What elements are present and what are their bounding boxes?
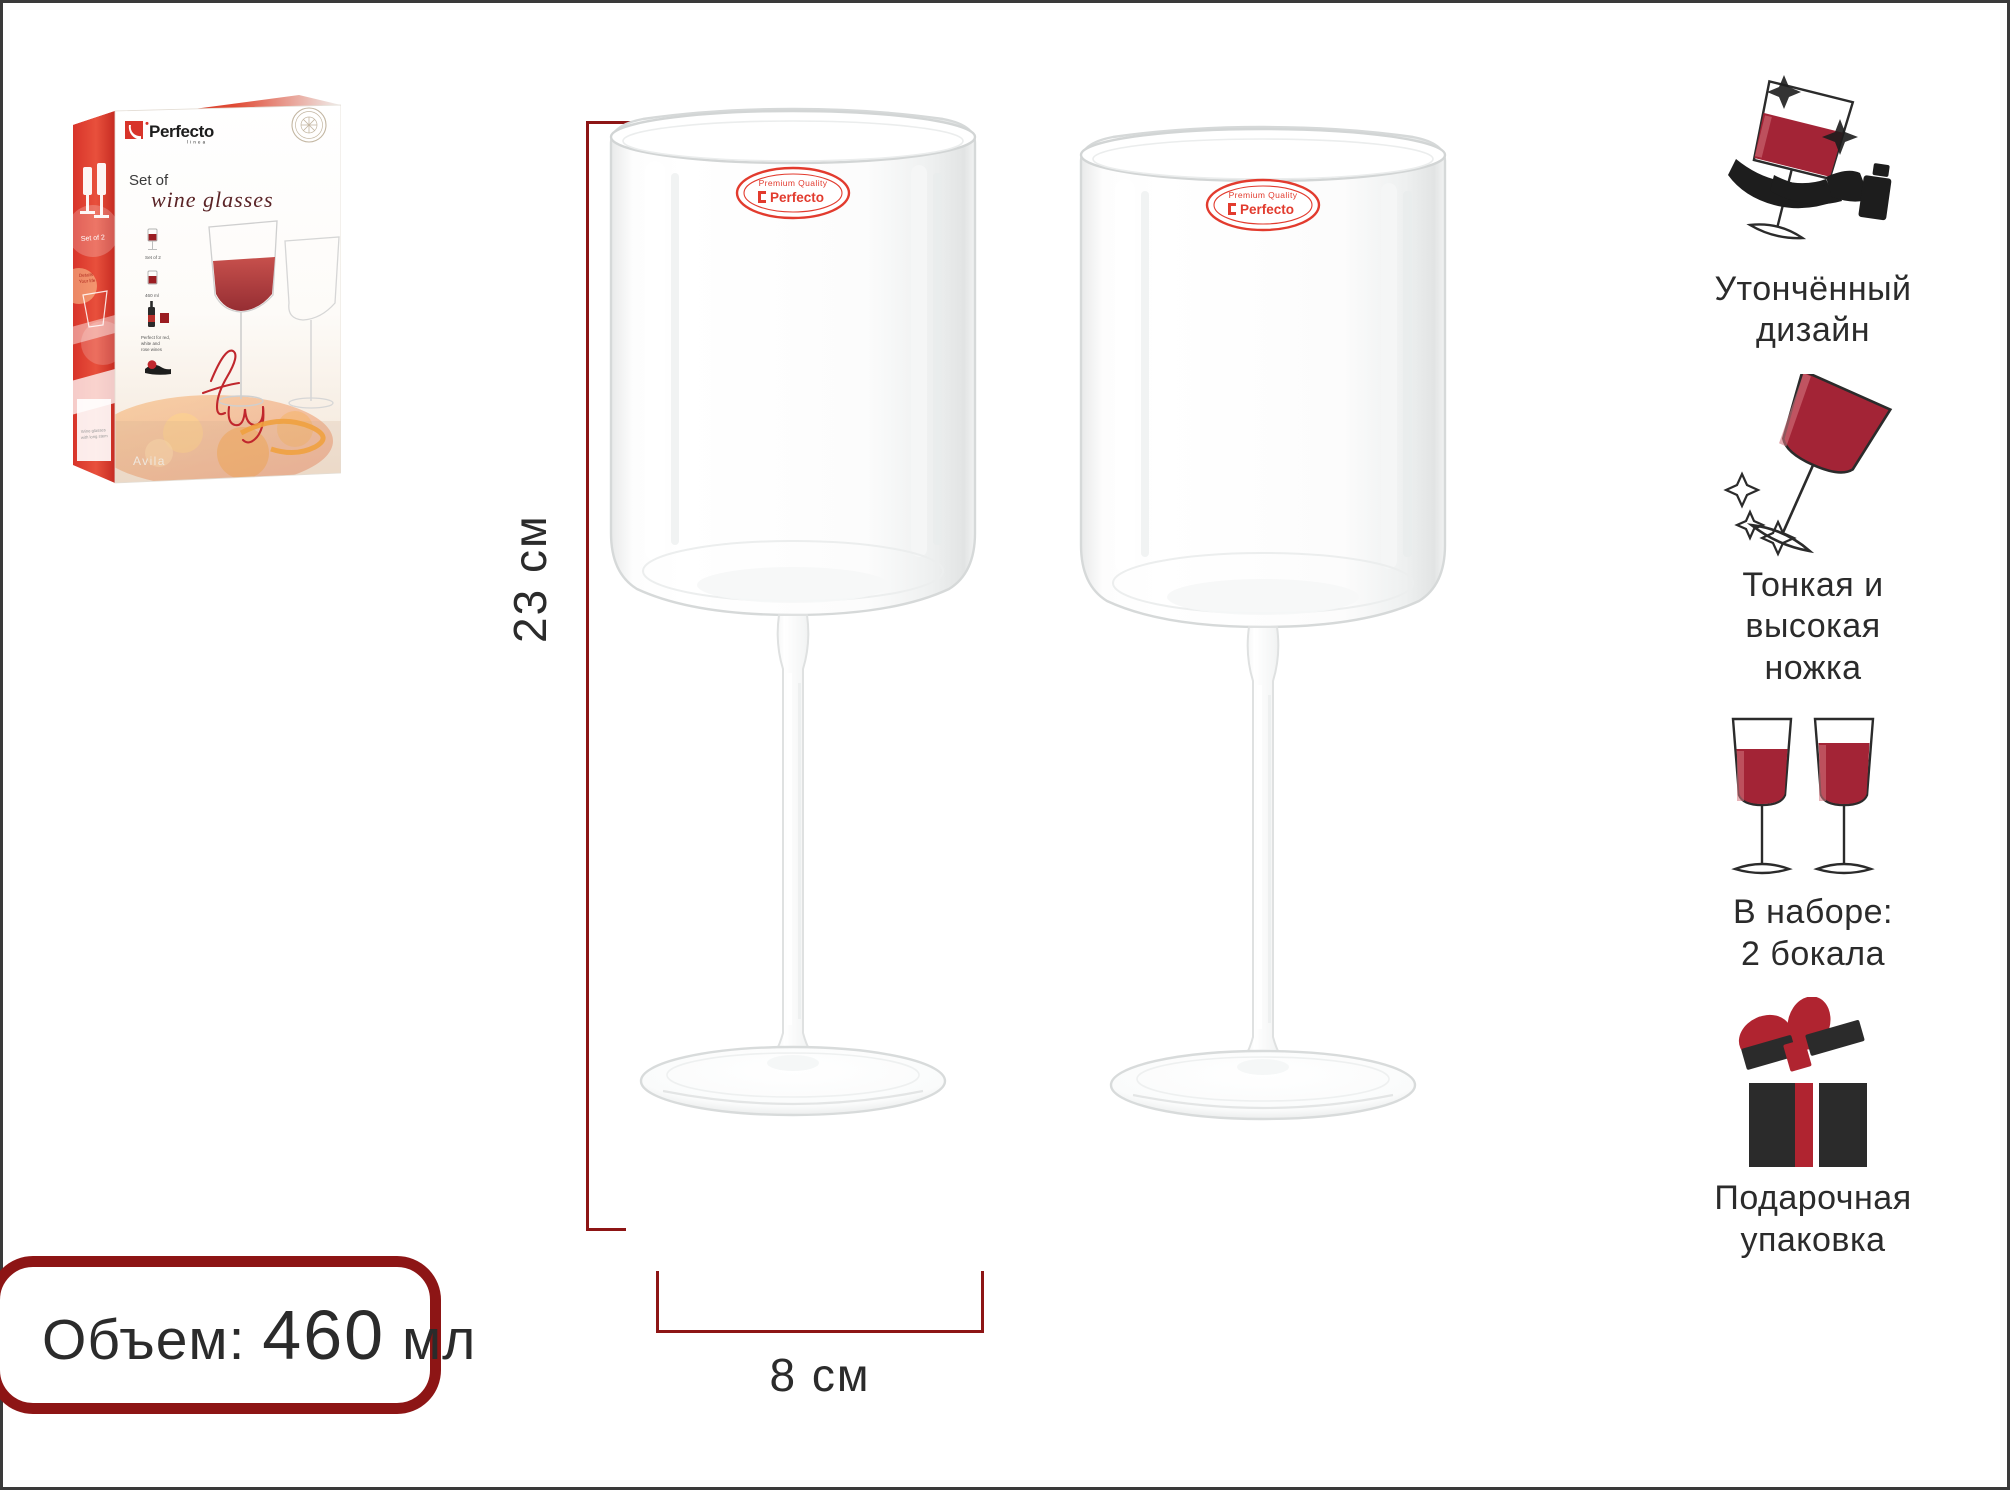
width-dimension-bracket	[656, 1271, 984, 1333]
svg-text:white and: white and	[141, 341, 160, 346]
feature-list: Утончённый дизайн	[1663, 63, 1963, 1283]
feature-label-thin-tall-stem: Тонкая и высокая ножка	[1742, 565, 1883, 689]
svg-text:Set of 2: Set of 2	[145, 255, 161, 260]
hand-holding-wine-glass-icon	[1688, 63, 1938, 263]
feature-label-set-of-two: В наборе: 2 бокала	[1733, 892, 1893, 975]
width-dimension-label: 8 см	[656, 1348, 984, 1402]
svg-text:Perfect for red,: Perfect for red,	[141, 335, 170, 340]
feature-label-refined-design: Утончённый дизайн	[1714, 269, 1911, 352]
two-wine-glasses-icon	[1713, 711, 1913, 886]
volume-value: 460	[262, 1296, 385, 1374]
svg-text:Perfecto: Perfecto	[1240, 202, 1294, 217]
tilted-wine-glass-long-stem-icon	[1698, 374, 1928, 559]
gift-box-icon	[1713, 997, 1913, 1172]
svg-text:Premium Quality: Premium Quality	[1229, 190, 1298, 200]
product-package-image: Set of 2 Details Your life Wine glasses …	[63, 81, 341, 491]
volume-text: Объем: 460 мл	[0, 1295, 476, 1375]
feature-label-gift-packaging: Подарочная упаковка	[1714, 1178, 1911, 1261]
feature-item-set-of-two: В наборе: 2 бокала	[1663, 711, 1963, 975]
product-infographic-canvas: Set of 2 Details Your life Wine glasses …	[0, 0, 2010, 1490]
svg-text:linea: linea	[187, 140, 207, 145]
svg-text:460 ml: 460 ml	[145, 293, 159, 298]
volume-badge: Объем: 460 мл	[0, 1256, 441, 1414]
svg-text:Details: Details	[79, 272, 94, 278]
svg-text:rose wines: rose wines	[141, 347, 163, 352]
svg-text:wine glasses: wine glasses	[151, 187, 274, 212]
feature-item-thin-tall-stem: Тонкая и высокая ножка	[1663, 374, 1963, 689]
feature-item-gift-packaging: Подарочная упаковка	[1663, 997, 1963, 1261]
volume-unit: мл	[402, 1308, 476, 1372]
svg-text:Perfecto: Perfecto	[149, 122, 214, 141]
wine-glass-right: Premium Quality Perfecto	[1063, 121, 1483, 1231]
svg-text:Premium Quality: Premium Quality	[759, 178, 828, 188]
wine-glass-left: Premium Quality Perfecto	[593, 103, 1013, 1233]
feature-item-refined-design: Утончённый дизайн	[1663, 63, 1963, 352]
svg-text:Avila: Avila	[133, 454, 166, 468]
volume-label: Объем:	[42, 1308, 245, 1372]
height-dimension-line	[586, 121, 589, 1231]
svg-text:Perfecto: Perfecto	[770, 190, 824, 205]
height-dimension-label: 23 см	[503, 514, 557, 643]
